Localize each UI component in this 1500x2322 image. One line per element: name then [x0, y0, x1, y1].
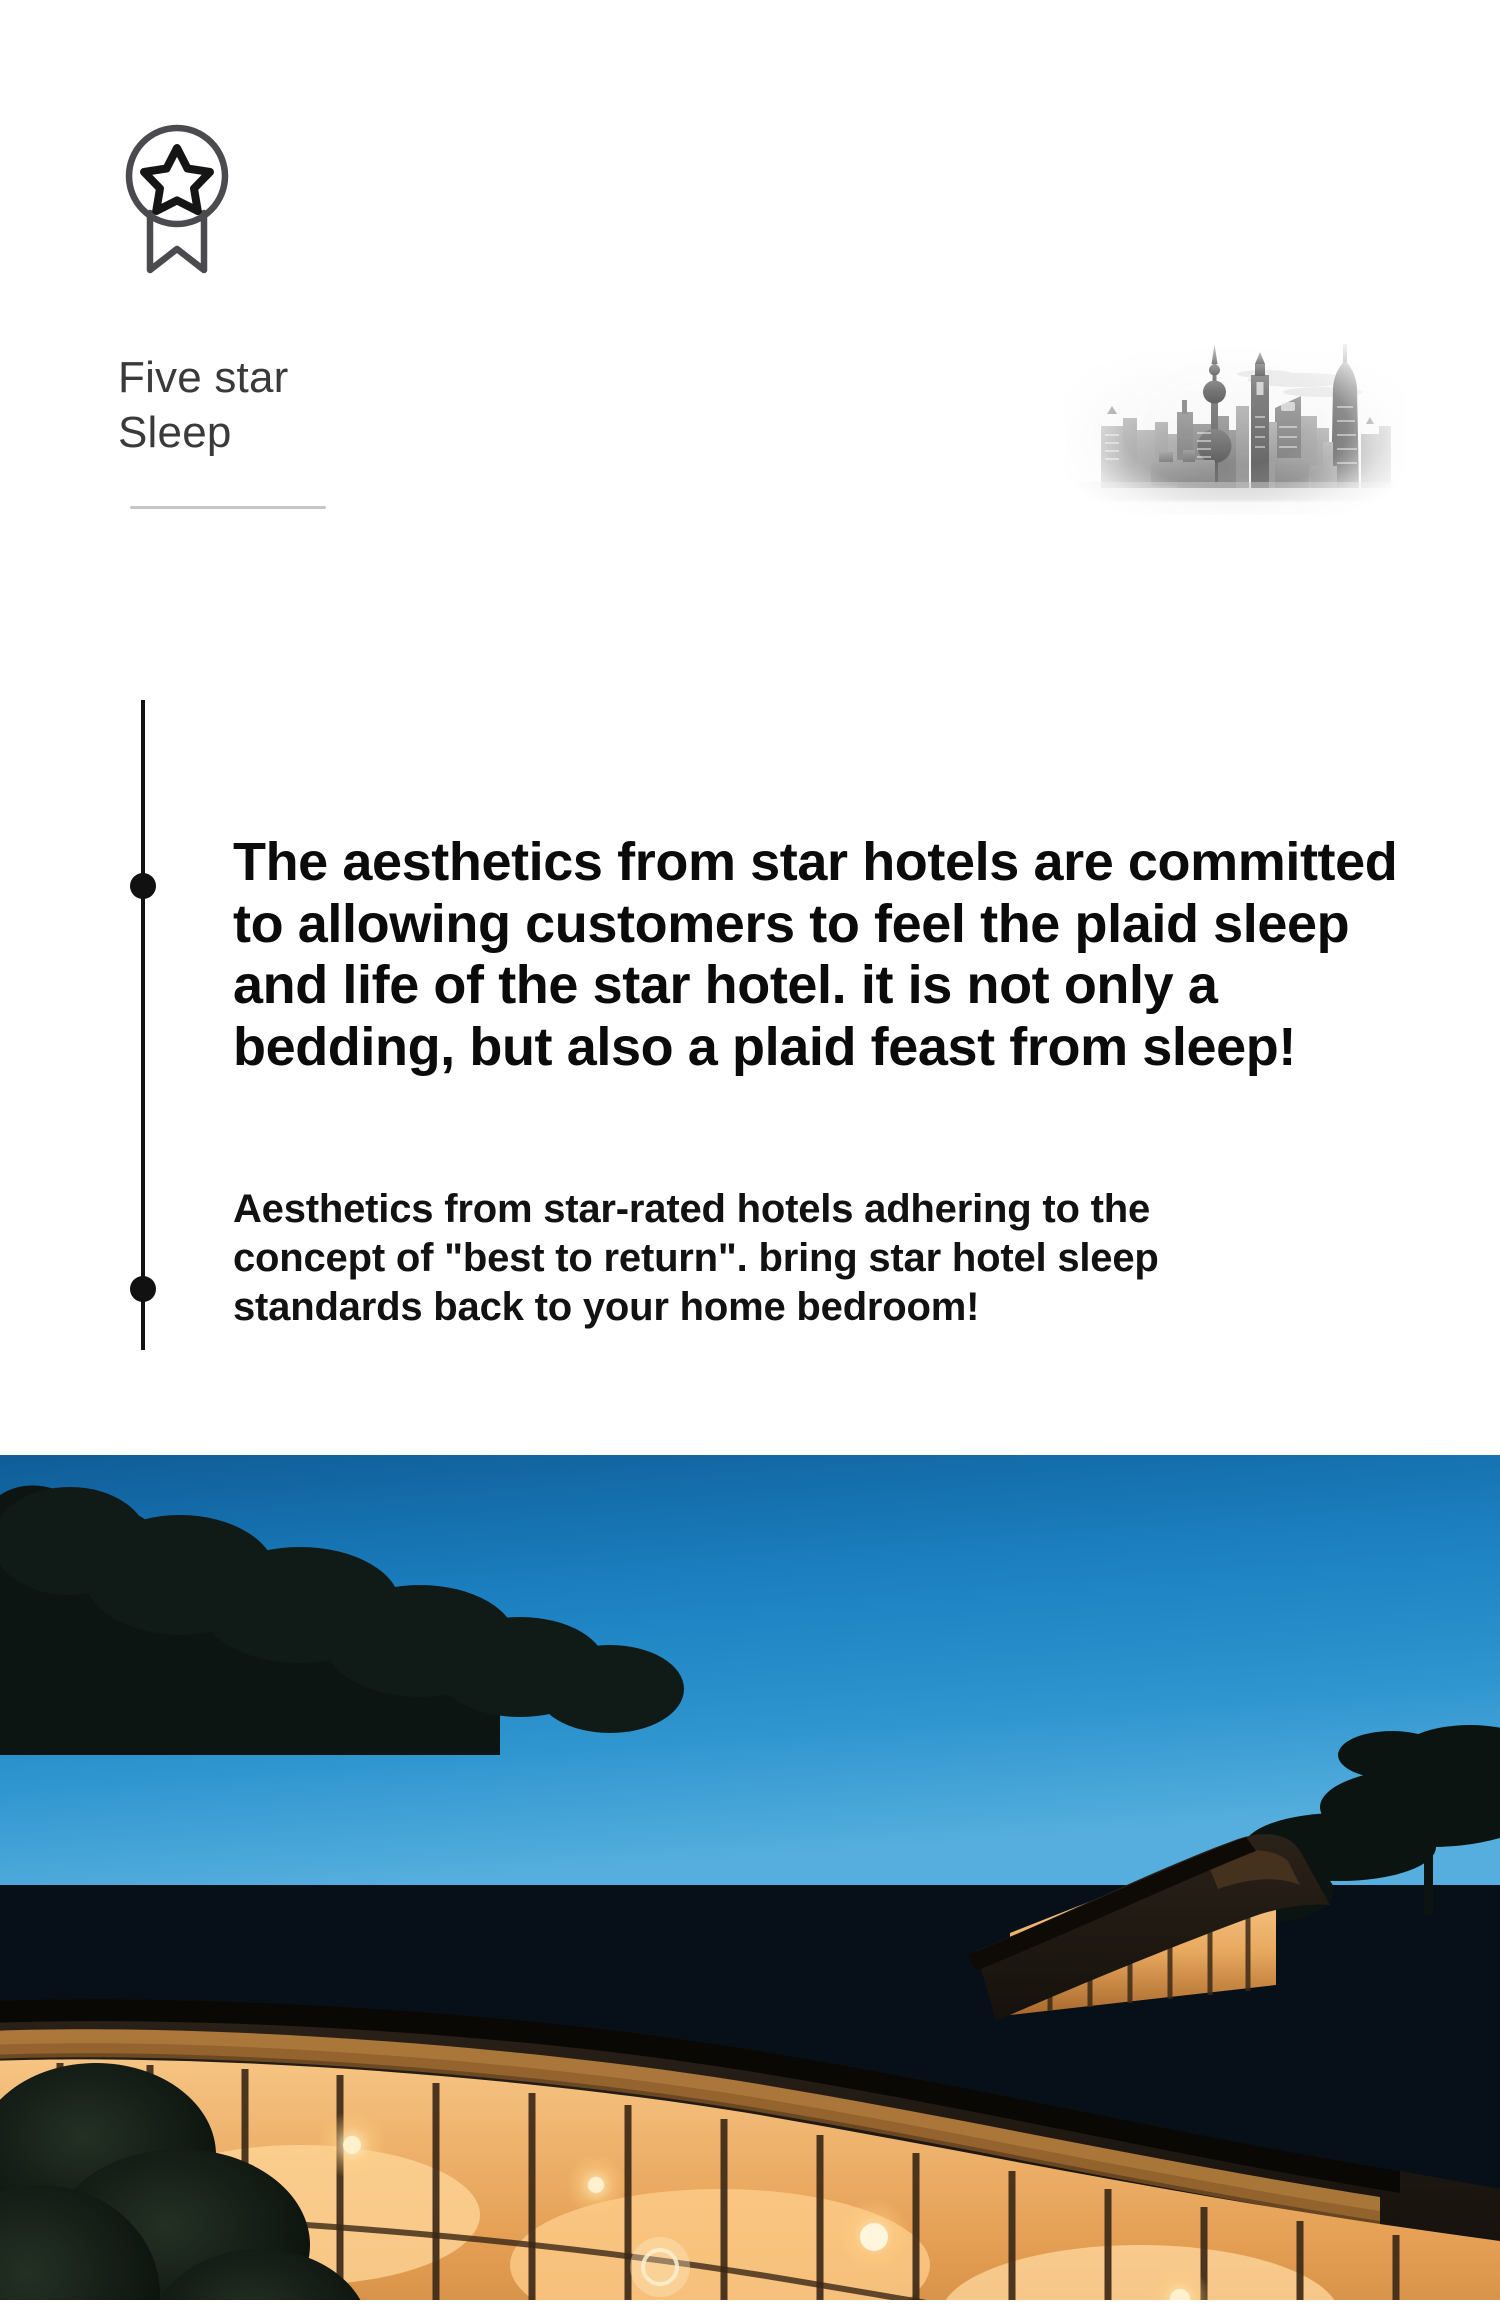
brand-divider — [130, 506, 326, 509]
award-badge-star-icon — [112, 118, 242, 283]
headline-text: The aesthetics from star hotels are comm… — [233, 832, 1443, 1078]
timeline-dot-1 — [130, 873, 156, 899]
page-bottom-strip — [0, 2300, 1500, 2322]
hotel-exterior-twilight-photo — [0, 1455, 1500, 2300]
timeline-vertical-line — [141, 700, 145, 1350]
promo-page: Five star Sleep — [0, 0, 1500, 2322]
brand-title: Five star Sleep — [118, 350, 638, 460]
subcopy-text: Aesthetics from star-rated hotels adheri… — [233, 1185, 1293, 1331]
city-skyline-watermark-icon — [1065, 330, 1405, 515]
timeline-dot-2 — [130, 1276, 156, 1302]
